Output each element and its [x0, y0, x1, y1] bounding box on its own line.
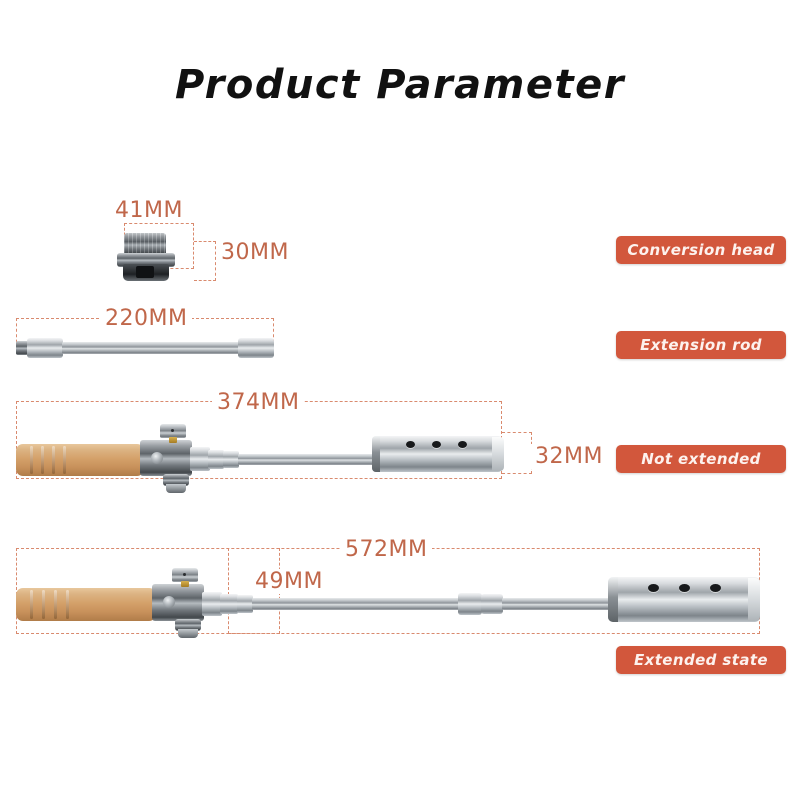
- torch-ext-brass-stem: [181, 581, 189, 587]
- badge-conversion-head[interactable]: Conversion head: [616, 236, 786, 264]
- burner-air-hole-2: [432, 441, 441, 448]
- torch-ext-tube-first: [252, 598, 460, 610]
- product-parameter-diagram: Product Parameter 41MM 30MM Conversion h…: [0, 0, 800, 800]
- dimension-label-374mm: 374MM: [212, 390, 304, 415]
- dimension-box-30mm: [194, 241, 216, 281]
- torch-burner-head-tip: [492, 437, 504, 471]
- dimension-label-30mm: 30MM: [216, 240, 294, 265]
- page-title: Product Parameter: [0, 62, 800, 108]
- dimension-label-41mm: 41MM: [110, 198, 188, 223]
- torch-burner-head-rim: [372, 436, 380, 472]
- burner-air-hole-3: [458, 441, 467, 448]
- dimension-label-32mm: 32MM: [530, 444, 608, 469]
- burner-ext-air-hole-2: [679, 584, 690, 592]
- torch-gas-inlet-nut: [166, 484, 186, 493]
- torch-ext-neck-taper: [202, 592, 222, 616]
- extension-rod-shaft: [62, 342, 240, 354]
- torch-ext-knob-dot: [183, 573, 186, 576]
- dimension-label-49mm: 49MM: [250, 569, 328, 594]
- torch-ext-tube-second: [502, 598, 612, 610]
- torch-knob-dot: [171, 429, 174, 432]
- torch-ext-valve-body: [152, 584, 204, 621]
- torch-ext-coupling-left: [458, 593, 482, 615]
- extension-rod-right-collar: [238, 338, 274, 358]
- conversion-head-socket-opening: [136, 266, 154, 278]
- badge-not-extended[interactable]: Not extended: [616, 445, 786, 473]
- torch-ext-burner-head-rim: [608, 577, 618, 622]
- extension-rod-left-collar: [27, 338, 63, 358]
- badge-extended-state[interactable]: Extended state: [616, 646, 786, 674]
- dimension-label-220mm: 220MM: [100, 306, 192, 331]
- torch-hex-segment-1: [208, 450, 224, 469]
- torch-valve-screw: [151, 452, 163, 464]
- torch-ext-hex-segment-2: [237, 595, 253, 613]
- torch-ext-burner-head-tip: [748, 578, 760, 621]
- burner-air-hole-1: [406, 441, 415, 448]
- torch-neck-taper: [190, 447, 210, 471]
- torch-main-tube: [238, 454, 374, 465]
- torch-handle-grooves: [28, 446, 74, 474]
- badge-extension-rod[interactable]: Extension rod: [616, 331, 786, 359]
- burner-ext-air-hole-3: [710, 584, 721, 592]
- torch-brass-stem: [169, 437, 177, 443]
- torch-ext-coupling-right: [481, 594, 503, 614]
- torch-ext-hex-segment-1: [220, 594, 238, 614]
- torch-ext-gas-inlet-nut: [178, 629, 198, 638]
- torch-valve-body: [140, 440, 192, 476]
- dimension-box-32mm: [502, 432, 532, 474]
- burner-ext-air-hole-1: [648, 584, 659, 592]
- torch-ext-handle-grooves: [28, 590, 78, 619]
- torch-ext-valve-screw: [163, 596, 175, 608]
- dimension-label-572mm: 572MM: [340, 537, 432, 562]
- torch-hex-segment-2: [223, 451, 239, 468]
